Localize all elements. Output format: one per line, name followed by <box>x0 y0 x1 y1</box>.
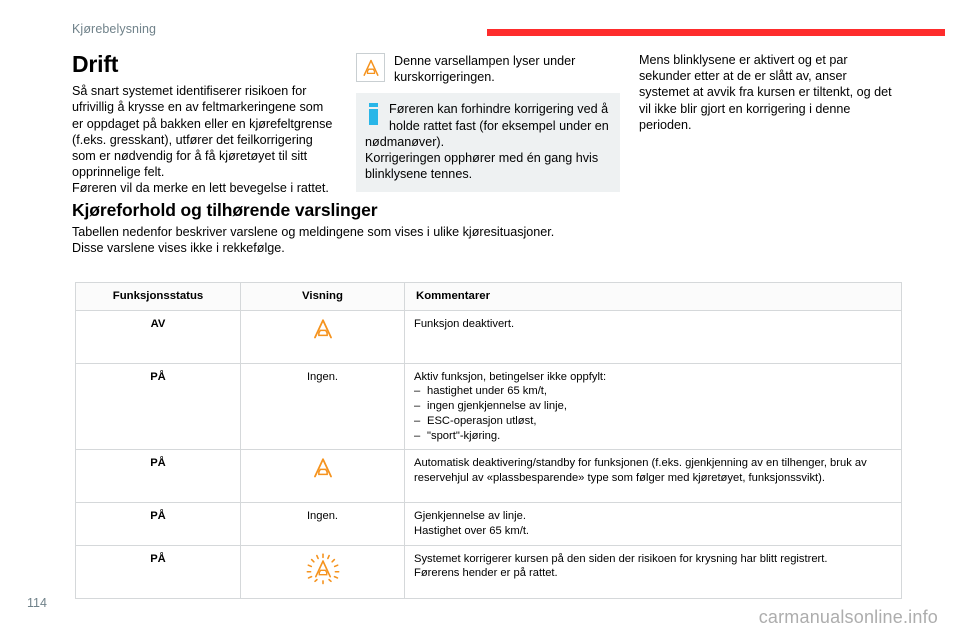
cell-display: Ingen. <box>241 363 405 450</box>
table-row: PÅ <box>76 545 902 598</box>
comment-line: Aktiv funksjon, betingelser ikke oppfylt… <box>414 370 892 385</box>
cell-status: AV <box>76 310 241 363</box>
lane-keep-assist-flashing-icon <box>250 552 395 586</box>
info-box: Føreren kan forhindre korrigering ved å … <box>356 93 620 192</box>
column-header-display: Visning <box>241 283 405 311</box>
section-title: Kjøreforhold og tilhørende varslinger <box>72 200 900 221</box>
status-table-wrapper: Funksjonsstatus Visning Kommentarer AV <box>75 282 901 599</box>
table-row: PÅ Ingen. Gjenkjennelse av linje. Hastig… <box>76 503 902 545</box>
list-item: "sport"-kjøring. <box>414 429 892 444</box>
warning-lamp-note: Denne varsellampen lyser under kurskorri… <box>356 52 620 85</box>
middle-column: Denne varsellampen lyser under kurskorri… <box>356 52 620 192</box>
left-column: Drift Så snart systemet identifiserer ri… <box>72 52 334 197</box>
lane-keep-assist-icon <box>250 317 395 341</box>
paragraph: Tabellen nedenfor beskriver varslene og … <box>72 224 900 240</box>
paragraph: Disse varslene vises ikke i rekkefølge. <box>72 240 900 256</box>
section-driving-conditions: Kjøreforhold og tilhørende varslinger Ta… <box>72 200 900 257</box>
page-header: Kjørebelysning <box>0 0 960 42</box>
page-title: Drift <box>72 52 334 76</box>
cell-comment: Gjenkjennelse av linje. Hastighet over 6… <box>405 503 902 545</box>
cell-display <box>241 310 405 363</box>
cell-status: PÅ <box>76 450 241 503</box>
cell-display: Ingen. <box>241 503 405 545</box>
comment-line: Systemet korrigerer kursen på den siden … <box>414 552 892 567</box>
column-header-status: Funksjonsstatus <box>76 283 241 311</box>
header-title: Kjørebelysning <box>72 22 156 36</box>
column-header-comment: Kommentarer <box>405 283 902 311</box>
paragraph: Føreren vil da merke en lett bevegelse i… <box>72 180 334 196</box>
left-column-body: Så snart systemet identifiserer risikoen… <box>72 83 334 196</box>
table-row: PÅ Ingen. Aktiv funksjon, betingelser ik… <box>76 363 902 450</box>
lane-keep-assist-icon-box <box>356 53 385 82</box>
list-item: ingen gjenkjennelse av linje, <box>414 399 892 414</box>
paragraph: Så snart systemet identifiserer risikoen… <box>72 83 334 180</box>
right-column: Mens blinklysene er aktivert og et par s… <box>639 52 897 133</box>
comment-line: Førerens hender er på rattet. <box>414 566 892 581</box>
paragraph: Mens blinklysene er aktivert og et par s… <box>639 52 897 133</box>
section-body: Tabellen nedenfor beskriver varslene og … <box>72 224 900 257</box>
cell-status: PÅ <box>76 363 241 450</box>
comment-line: Gjenkjennelse av linje. <box>414 509 892 524</box>
list-item: ESC-operasjon utløst, <box>414 414 892 429</box>
comment-line: Funksjon deaktivert. <box>414 317 892 332</box>
cell-status: PÅ <box>76 503 241 545</box>
cell-comment: Aktiv funksjon, betingelser ikke oppfylt… <box>405 363 902 450</box>
right-column-body: Mens blinklysene er aktivert og et par s… <box>639 52 897 133</box>
comment-line: Automatisk deaktivering/standby for funk… <box>414 456 892 485</box>
comment-line: Hastighet over 65 km/t. <box>414 524 892 539</box>
info-icon <box>369 103 378 125</box>
cell-comment: Automatisk deaktivering/standby for funk… <box>405 450 902 503</box>
lane-keep-assist-icon <box>360 58 382 78</box>
table-row: AV <box>76 310 902 363</box>
lane-keep-assist-icon <box>250 456 395 480</box>
info-paragraph: Føreren kan forhindre korrigering ved å … <box>365 101 610 150</box>
table-header-row: Funksjonsstatus Visning Kommentarer <box>76 283 902 311</box>
status-table: Funksjonsstatus Visning Kommentarer AV <box>75 282 902 599</box>
cell-display <box>241 450 405 503</box>
watermark: carmanualsonline.info <box>759 607 938 628</box>
info-paragraph: Korrigeringen opphører med én gang hvis … <box>365 150 610 182</box>
cell-comment: Systemet korrigerer kursen på den siden … <box>405 545 902 598</box>
warning-lamp-text: Denne varsellampen lyser under kurskorri… <box>394 52 620 85</box>
cell-status: PÅ <box>76 545 241 598</box>
header-red-rule <box>487 29 945 36</box>
comment-bullet-list: hastighet under 65 km/t, ingen gjenkjenn… <box>414 384 892 443</box>
list-item: hastighet under 65 km/t, <box>414 384 892 399</box>
table-row: PÅ A <box>76 450 902 503</box>
cell-comment: Funksjon deaktivert. <box>405 310 902 363</box>
page-number: 114 <box>27 596 47 610</box>
cell-display <box>241 545 405 598</box>
